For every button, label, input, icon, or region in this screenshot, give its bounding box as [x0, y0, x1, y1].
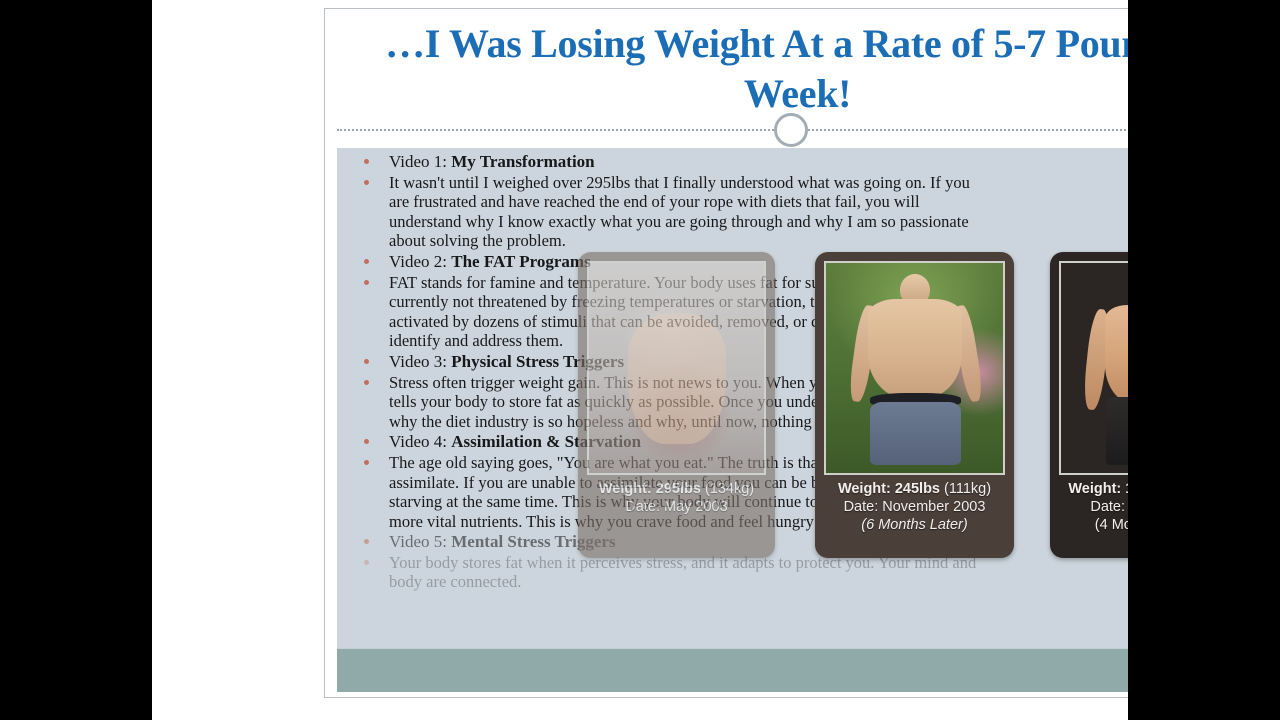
photo-caption: Weight: 245lbs (111kg) Date: November 20… — [824, 475, 1005, 534]
bullet-heading: My Transformation — [451, 152, 594, 171]
slide-title-band: …I Was Losing Weight At a Rate of 5-7 Po… — [325, 9, 1268, 130]
list-item: Your body stores fat when it perceives s… — [351, 553, 991, 592]
caption-weight: Weight: 245lbs — [838, 481, 940, 497]
letterbox-right — [1128, 0, 1280, 720]
slide-footer-bar — [337, 648, 1258, 692]
list-item: It wasn't until I weighed over 295lbs th… — [351, 173, 991, 251]
bullet-body: It wasn't until I weighed over 295lbs th… — [389, 173, 970, 251]
bullet-prefix: Video 5: — [389, 532, 451, 551]
photo-card-before: Weight: 295lbs (134kg) Date: May 2003 — [578, 252, 775, 558]
bullet-prefix: Video 2: — [389, 252, 451, 271]
slide-page-frame: …I Was Losing Weight At a Rate of 5-7 Po… — [152, 0, 1128, 720]
photo-card-middle: Weight: 245lbs (111kg) Date: November 20… — [815, 252, 1014, 558]
caption-weight-line: Weight: 295lbs (134kg) — [587, 480, 766, 498]
video-stage: …I Was Losing Weight At a Rate of 5-7 Po… — [0, 0, 1280, 720]
bullet-prefix: Video 4: — [389, 432, 451, 451]
photo-caption: Weight: 295lbs (134kg) Date: May 2003 — [587, 475, 766, 516]
bullet-body: Your body stores fat when it perceives s… — [389, 553, 976, 592]
letterbox-left — [0, 0, 152, 720]
before-photo-image — [589, 263, 764, 473]
bullet-heading: The FAT Programs — [451, 252, 590, 271]
bullet-prefix: Video 1: — [389, 152, 451, 171]
list-item: Video 1: My Transformation — [351, 152, 991, 172]
caption-weight-kg: (111kg) — [944, 481, 991, 497]
caption-weight-line: Weight: 245lbs (111kg) — [824, 480, 1005, 498]
caption-note-line: (6 Months Later) — [824, 516, 1005, 534]
caption-date-line: Date: May 2003 — [587, 498, 766, 516]
slide-content-panel: Video 1: My Transformation It wasn't unt… — [337, 148, 1258, 648]
bullet-prefix: Video 3: — [389, 352, 451, 371]
caption-weight-kg: (134kg) — [705, 481, 754, 497]
middle-photo-image — [826, 263, 1003, 473]
caption-date-line: Date: November 2003 — [824, 498, 1005, 516]
page-title: …I Was Losing Weight At a Rate of 5-7 Po… — [353, 19, 1242, 119]
photo-frame — [824, 261, 1005, 475]
photo-frame — [587, 261, 766, 475]
divider-ring-decoration — [774, 113, 808, 147]
caption-weight: Weight: 295lbs — [599, 481, 701, 497]
